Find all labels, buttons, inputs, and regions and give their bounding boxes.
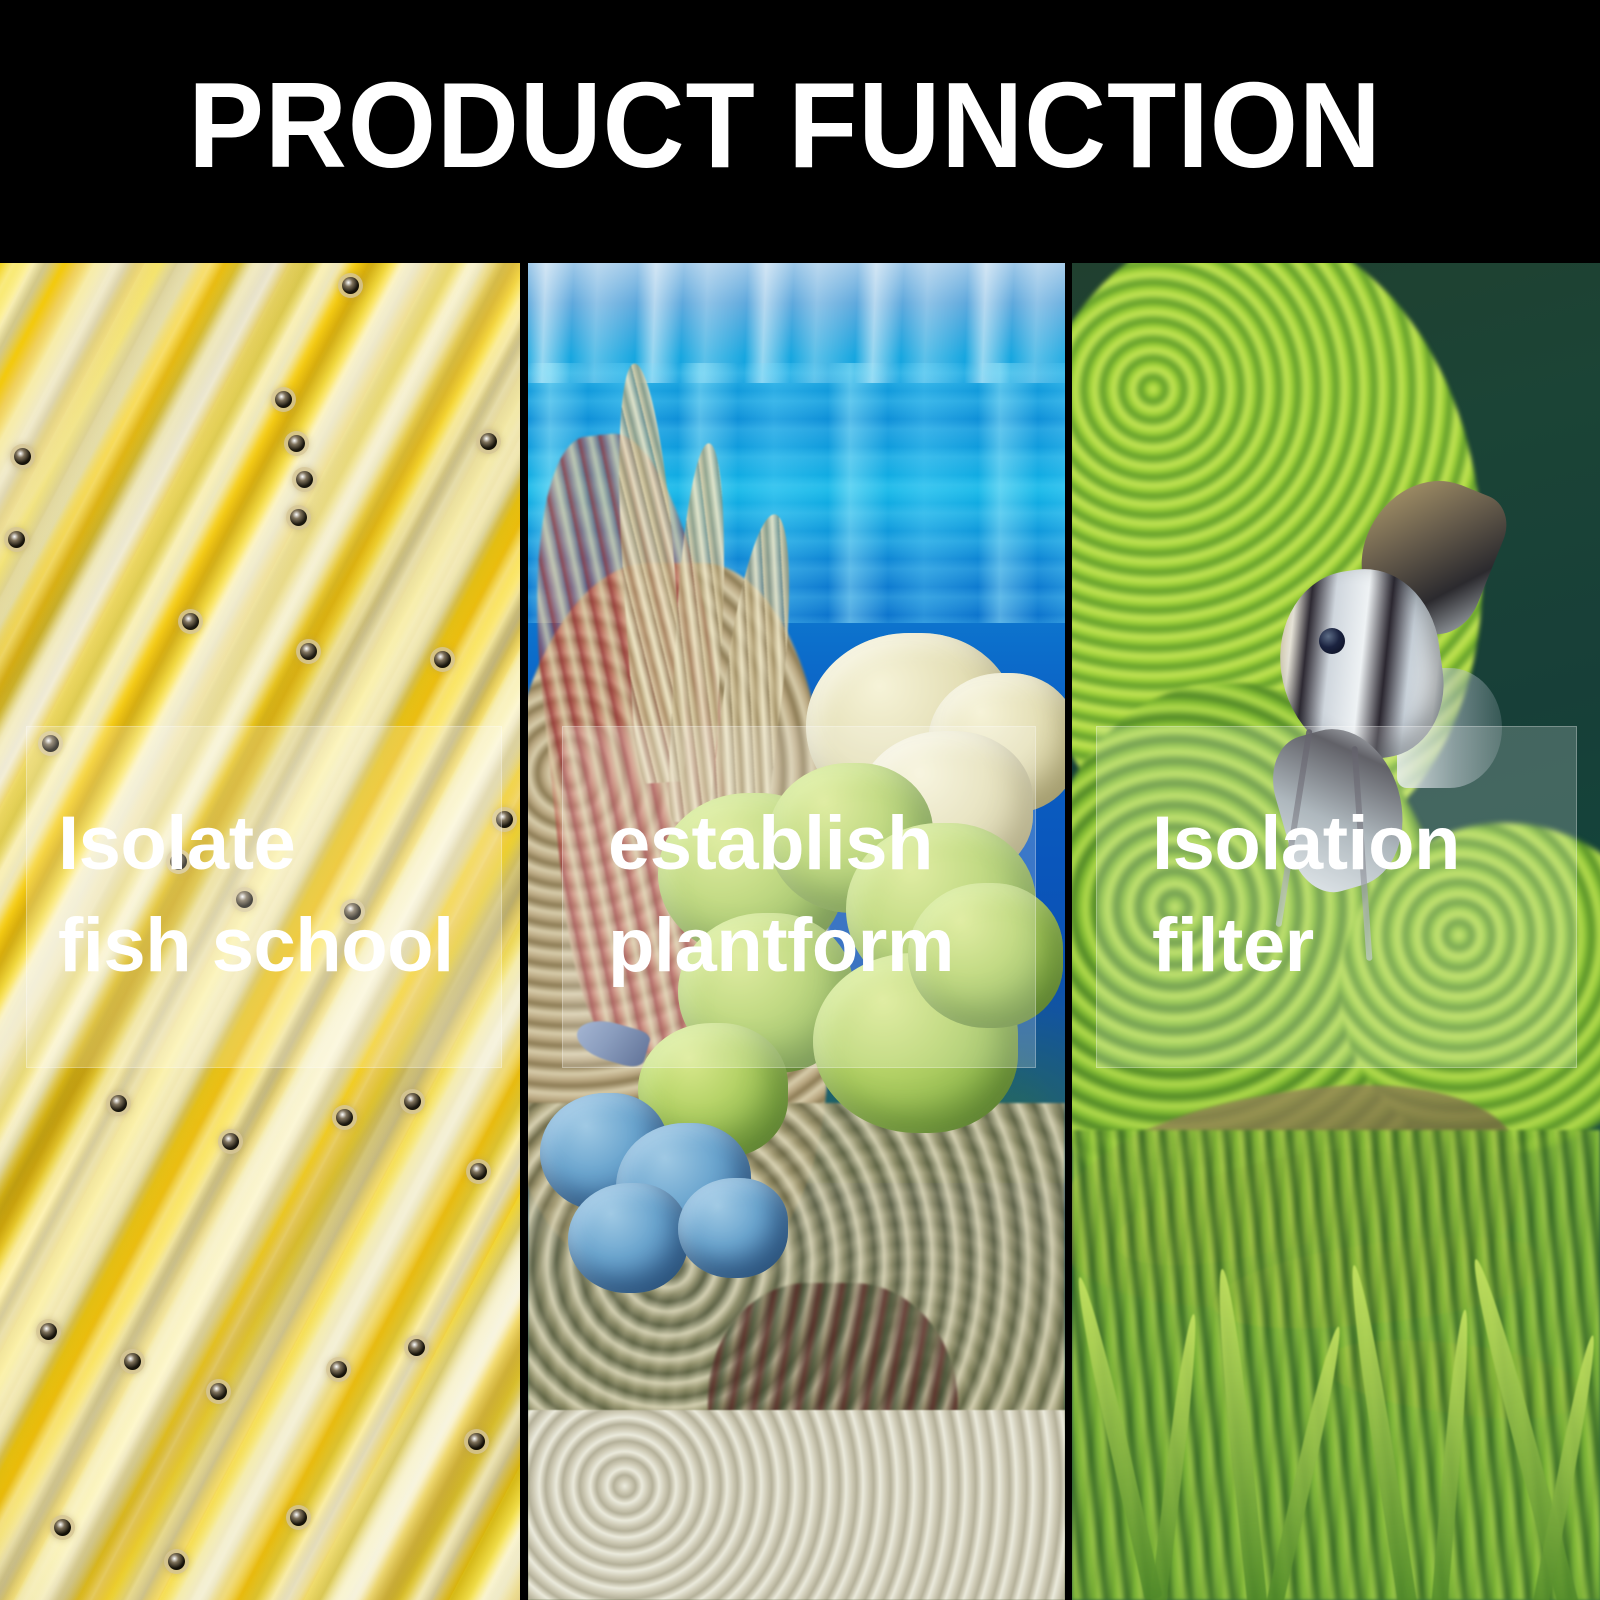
- panel-isolate-fish-school[interactable]: Isolate fish school: [0, 263, 520, 1600]
- caption-establish-plantform: establish plantform: [608, 793, 954, 997]
- page-title: PRODUCT FUNCTION: [55, 64, 1515, 186]
- panel-establish-plantform[interactable]: establish plantform: [528, 263, 1065, 1600]
- caption-line-1: Isolate: [58, 801, 295, 886]
- sand-substrate: [528, 1410, 1065, 1600]
- caption-line-2: plantform: [608, 903, 954, 988]
- panel-strip: Isolate fish school: [0, 263, 1600, 1600]
- caption-line-1: establish: [608, 801, 933, 886]
- panel-isolation-filter[interactable]: Isolation filter: [1072, 263, 1600, 1600]
- blue-coral: [678, 1178, 788, 1278]
- header-band: PRODUCT FUNCTION: [0, 0, 1600, 263]
- caption-line-2: fish school: [58, 903, 454, 988]
- angelfish-eye-icon: [1319, 628, 1345, 654]
- caption-line-1: Isolation: [1152, 801, 1460, 886]
- foreground-grass: [1072, 1130, 1600, 1600]
- blue-coral: [568, 1183, 688, 1293]
- caption-line-2: filter: [1152, 903, 1314, 988]
- caption-isolate-fish-school: Isolate fish school: [58, 793, 454, 997]
- product-function-poster: PRODUCT FUNCTION: [0, 0, 1600, 1600]
- caption-isolation-filter: Isolation filter: [1152, 793, 1460, 997]
